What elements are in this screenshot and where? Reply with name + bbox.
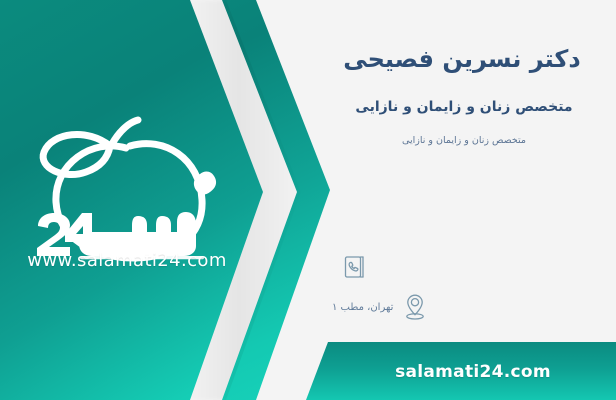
card-content: دکتر نسرین فصیحی متخصص زنان و زایمان و ن… xyxy=(316,0,616,400)
doctor-profile-card: www.salamati24.com دکتر نسرین فصیحی متخص… xyxy=(0,0,616,400)
salamati24-logo xyxy=(14,108,244,268)
location-pin-icon[interactable] xyxy=(401,292,429,322)
footer-site-url: salamati24.com xyxy=(330,362,616,382)
address-label: تهران، مطب ۱ xyxy=(332,302,393,313)
logo-wordmark xyxy=(79,172,216,256)
phone-row[interactable] xyxy=(332,252,602,282)
apple-outline-icon xyxy=(14,108,244,268)
logo-website-url: www.salamati24.com xyxy=(14,250,240,271)
doctor-specialty: متخصص زنان و زایمان و نازایی xyxy=(328,98,600,118)
address-row[interactable]: تهران، مطب ۱ xyxy=(332,290,602,324)
phone-book-icon[interactable] xyxy=(340,252,368,282)
page-title: دکتر نسرین فصیحی xyxy=(328,44,596,75)
doctor-specialty-secondary: متخصص زنان و زایمان و نازایی xyxy=(328,134,600,147)
